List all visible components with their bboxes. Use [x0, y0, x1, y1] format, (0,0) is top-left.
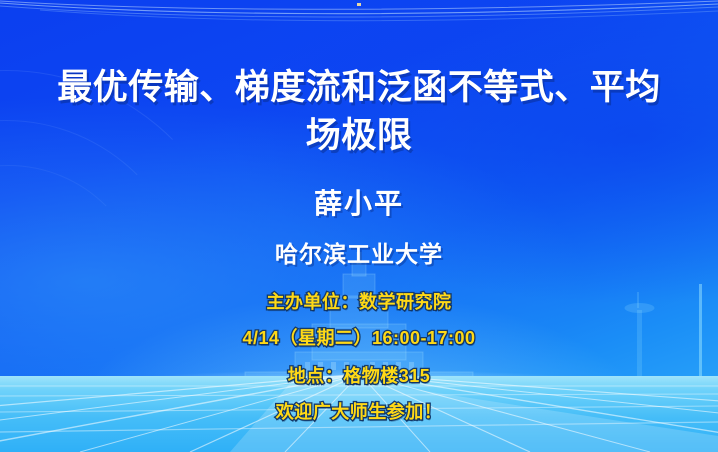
- speaker-name: 薛小平: [0, 182, 718, 222]
- speaker-affiliation: 哈尔滨工业大学: [0, 235, 718, 269]
- detail-location: 地点：格物楼315: [0, 362, 718, 388]
- seminar-poster: 最优传输、梯度流和泛函不等式、平均场极限 薛小平 哈尔滨工业大学 主办单位：数学…: [0, 0, 718, 452]
- detail-datetime: 4/14（星期二）16:00-17:00: [0, 324, 718, 350]
- page-title: 最优传输、梯度流和泛函不等式、平均场极限: [0, 64, 718, 160]
- poster-text-content: 最优传输、梯度流和泛函不等式、平均场极限 薛小平 哈尔滨工业大学 主办单位：数学…: [0, 0, 718, 452]
- detail-organizer: 主办单位：数学研究院: [0, 288, 718, 314]
- detail-welcome-note: 欢迎广大师生参加！: [0, 398, 718, 424]
